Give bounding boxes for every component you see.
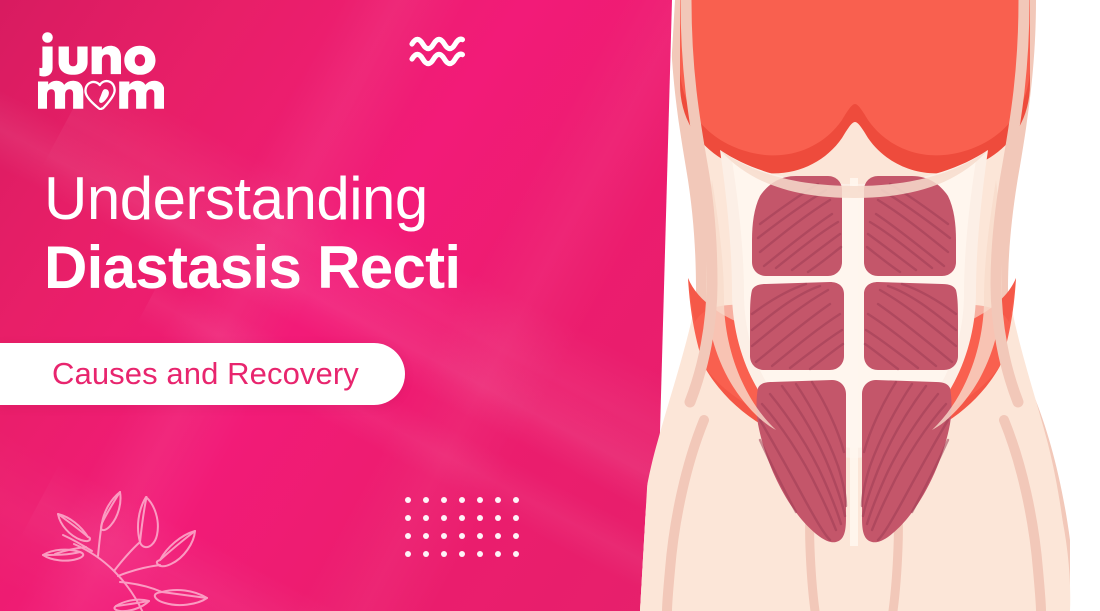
grid-dot: [459, 551, 465, 557]
diastasis-recti-anatomy-illustration: [600, 0, 1100, 611]
grid-dot: [405, 533, 411, 539]
grid-dot: [459, 497, 465, 503]
grid-dot: [513, 533, 519, 539]
grid-dot: [477, 515, 483, 521]
rectus-abdominis-left-middle: [750, 282, 844, 370]
grid-dot: [495, 515, 501, 521]
page-title-line-2: Diastasis Recti: [44, 236, 624, 299]
grid-dot: [477, 533, 483, 539]
grid-dot: [495, 497, 501, 503]
juno-mom-logo-mark: [34, 32, 164, 110]
blog-header-banner: Understanding Diastasis Recti Causes and…: [0, 0, 1100, 611]
grid-dot: [477, 551, 483, 557]
double-wave-icon: [408, 33, 472, 69]
grid-dot: [441, 497, 447, 503]
grid-dot: [405, 515, 411, 521]
heart-with-baby-icon: [85, 81, 114, 109]
rectus-abdominis-right-middle: [864, 282, 958, 370]
grid-dot: [441, 533, 447, 539]
grid-dot: [513, 515, 519, 521]
grid-dot: [459, 515, 465, 521]
grid-dot: [513, 497, 519, 503]
grid-dot: [441, 515, 447, 521]
subtitle-text: Causes and Recovery: [52, 356, 359, 392]
subtitle-pill: Causes and Recovery: [0, 343, 405, 405]
dot-grid-pattern: [405, 497, 531, 569]
juno-mom-logo[interactable]: [34, 32, 164, 110]
page-title-line-1: Understanding: [44, 168, 624, 230]
grid-dot: [495, 533, 501, 539]
grid-dot: [513, 551, 519, 557]
grid-dot: [423, 515, 429, 521]
grid-dot: [459, 533, 465, 539]
grid-dot: [405, 551, 411, 557]
grid-dot: [441, 551, 447, 557]
page-title: Understanding Diastasis Recti: [44, 168, 624, 299]
leaf-branch-ornament: [18, 455, 208, 611]
grid-dot: [495, 551, 501, 557]
grid-dot: [423, 551, 429, 557]
grid-dot: [477, 497, 483, 503]
linea-alba-gap: [850, 178, 858, 546]
grid-dot: [405, 497, 411, 503]
grid-dot: [423, 533, 429, 539]
grid-dot: [423, 497, 429, 503]
